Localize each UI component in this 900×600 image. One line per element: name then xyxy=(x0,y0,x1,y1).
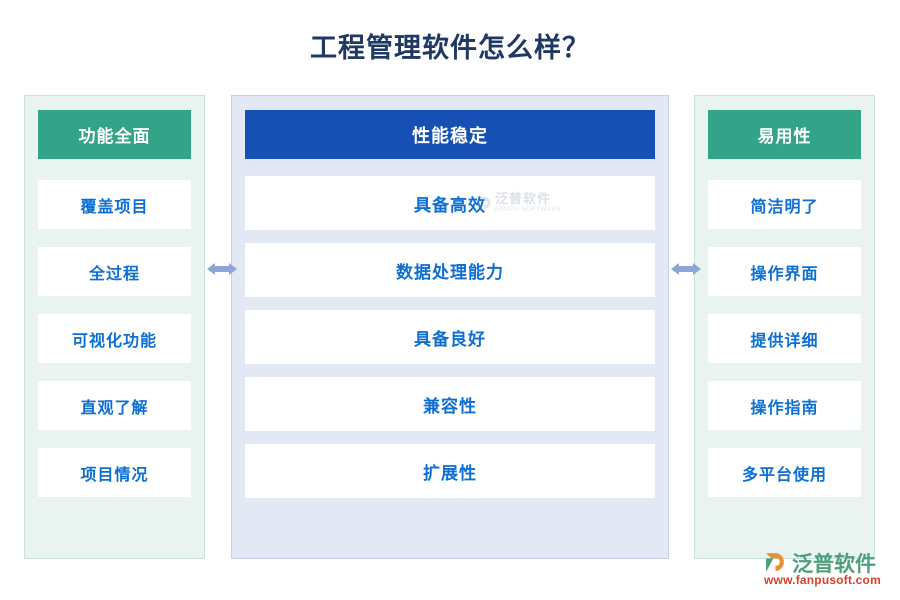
list-item[interactable]: 可视化功能 xyxy=(38,314,191,363)
list-item[interactable]: 简洁明了 xyxy=(708,180,861,229)
connector-left-center xyxy=(206,250,238,288)
list-item[interactable]: 直观了解 xyxy=(38,381,191,430)
list-item[interactable]: 多平台使用 xyxy=(708,448,861,497)
list-item[interactable]: 具备良好 xyxy=(245,310,655,364)
fanpu-logo-icon xyxy=(764,550,789,575)
double-arrow-icon xyxy=(206,250,238,288)
column-center: 性能稳定 具备高效 数据处理能力 具备良好 兼容性 扩展性 xyxy=(231,95,669,559)
column-center-card-list: 具备高效 数据处理能力 具备良好 兼容性 扩展性 xyxy=(245,176,655,498)
brand-url: www.fanpusoft.com xyxy=(764,573,881,587)
list-item[interactable]: 覆盖项目 xyxy=(38,180,191,229)
infographic-page: 工程管理软件怎么样？ 功能全面 覆盖项目 全过程 可视化功能 直观了解 项目情况… xyxy=(0,0,900,600)
double-arrow-icon xyxy=(670,250,702,288)
list-item[interactable]: 扩展性 xyxy=(245,444,655,498)
connector-center-right xyxy=(670,250,702,288)
list-item[interactable]: 操作界面 xyxy=(708,247,861,296)
column-left-header[interactable]: 功能全面 xyxy=(38,110,191,159)
list-item[interactable]: 提供详细 xyxy=(708,314,861,363)
list-item[interactable]: 全过程 xyxy=(38,247,191,296)
brand-logo: 泛普软件 www.fanpusoft.com xyxy=(764,548,892,592)
column-right-header[interactable]: 易用性 xyxy=(708,110,861,159)
list-item[interactable]: 数据处理能力 xyxy=(245,243,655,297)
list-item[interactable]: 兼容性 xyxy=(245,377,655,431)
column-right-card-list: 简洁明了 操作界面 提供详细 操作指南 多平台使用 xyxy=(708,180,861,497)
list-item[interactable]: 具备高效 xyxy=(245,176,655,230)
column-left-card-list: 覆盖项目 全过程 可视化功能 直观了解 项目情况 xyxy=(38,180,191,497)
column-right: 易用性 简洁明了 操作界面 提供详细 操作指南 多平台使用 xyxy=(694,95,875,559)
column-left: 功能全面 覆盖项目 全过程 可视化功能 直观了解 项目情况 xyxy=(24,95,205,559)
column-center-header[interactable]: 性能稳定 xyxy=(245,110,655,159)
page-title: 工程管理软件怎么样？ xyxy=(0,26,900,65)
list-item[interactable]: 操作指南 xyxy=(708,381,861,430)
list-item[interactable]: 项目情况 xyxy=(38,448,191,497)
